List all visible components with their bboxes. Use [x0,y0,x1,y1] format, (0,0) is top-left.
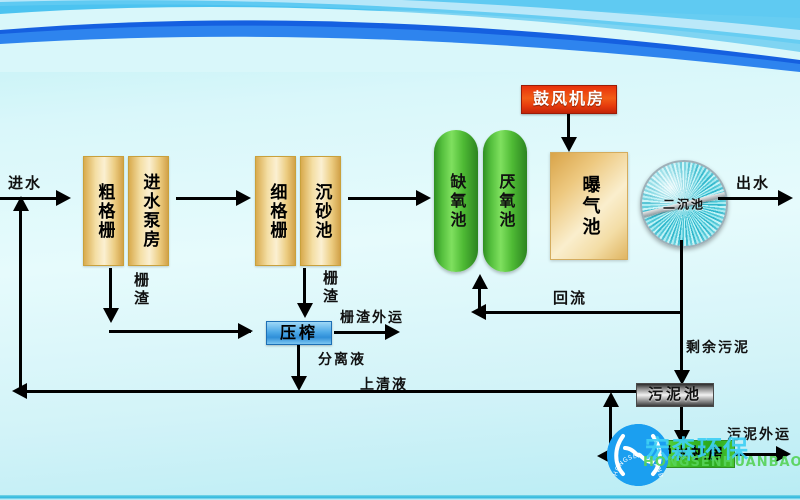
line-pump-to-fine-screen [176,197,238,200]
line-coarse-to-press [109,330,251,333]
node-influent-pump-room-label: 进水泵房 [140,173,158,249]
node-grit-chamber-label: 沉砂池 [312,183,330,240]
line-screenings-out [334,331,388,334]
node-coarse-screen-label: 粗格栅 [95,183,113,240]
node-influent-pump-room[interactable]: 进水泵房 [128,156,169,266]
label-screenings-1: 栅渣 [131,272,152,308]
footer-accent-line [0,495,800,500]
label-return-flow: 回流 [553,287,587,308]
label-separated-liquid: 分离液 [318,349,366,369]
arrow-effluent [778,190,793,206]
node-blower-room-label: 鼓风机房 [533,91,605,108]
node-secondary-clarifier-label: 二沉池 [642,196,726,213]
line-fine-screenings [303,268,306,308]
node-blower-room[interactable]: 鼓风机房 [521,85,617,114]
line-coarse-screenings [109,268,112,313]
node-aeration-tank[interactable]: 曝气池 [550,152,628,260]
arrow-grit-to-anoxic [416,190,431,206]
label-influent: 进水 [8,172,42,193]
line-return-flow [477,311,682,314]
line-grit-to-anoxic [348,197,418,200]
node-anaerobic-tank-label: 厌氧池 [497,173,514,230]
arrow-coarse-screenings [103,308,119,323]
label-effluent: 出水 [736,172,770,193]
node-sludge-tank-label: 污泥池 [648,387,702,403]
node-anoxic-tank[interactable]: 缺氧池 [434,130,478,272]
node-aeration-tank-label: 曝气池 [580,175,599,238]
arrow-return-flow-up [472,274,488,289]
line-supernatant [18,390,664,393]
node-fine-screen[interactable]: 细格栅 [255,156,296,266]
watermark-en: HONGSENHUANBAO [643,455,800,470]
header-wave-banner [0,0,800,72]
node-anoxic-tank-label: 缺氧池 [448,173,465,230]
line-clarifier-down [680,240,683,375]
diagram-canvas: 进水 粗格栅 进水泵房 细格栅 沉砂池 缺氧池 厌氧池 曝气池 鼓风机房 二沉池 [0,0,800,500]
arrow-fine-screenings [297,303,313,318]
arrow-pump-to-fine-screen [236,190,251,206]
node-coarse-screen[interactable]: 粗格栅 [83,156,124,266]
arrow-blower-to-aeration [561,137,577,152]
node-anaerobic-tank[interactable]: 厌氧池 [483,130,527,272]
line-recycle-riser [19,205,22,392]
node-secondary-clarifier[interactable]: 二沉池 [640,160,728,248]
label-excess-sludge: 剩余污泥 [686,337,750,357]
node-press[interactable]: 压榨 [266,321,332,345]
node-press-label: 压榨 [280,325,318,342]
node-fine-screen-label: 细格栅 [267,183,285,240]
arrow-influent [56,190,71,206]
node-sludge-tank[interactable]: 污泥池 [636,383,714,407]
arrow-separated-liquid [291,376,307,391]
arrow-screenings-out [385,324,400,340]
arrow-coarse-to-press [238,323,253,339]
node-grit-chamber[interactable]: 沉砂池 [300,156,341,266]
arrow-dewatering-filtrate-up [603,392,619,407]
line-influent [0,197,58,200]
arrow-recycle-riser [13,196,29,211]
label-screenings-2: 栅渣 [320,270,341,306]
line-effluent [718,197,780,200]
